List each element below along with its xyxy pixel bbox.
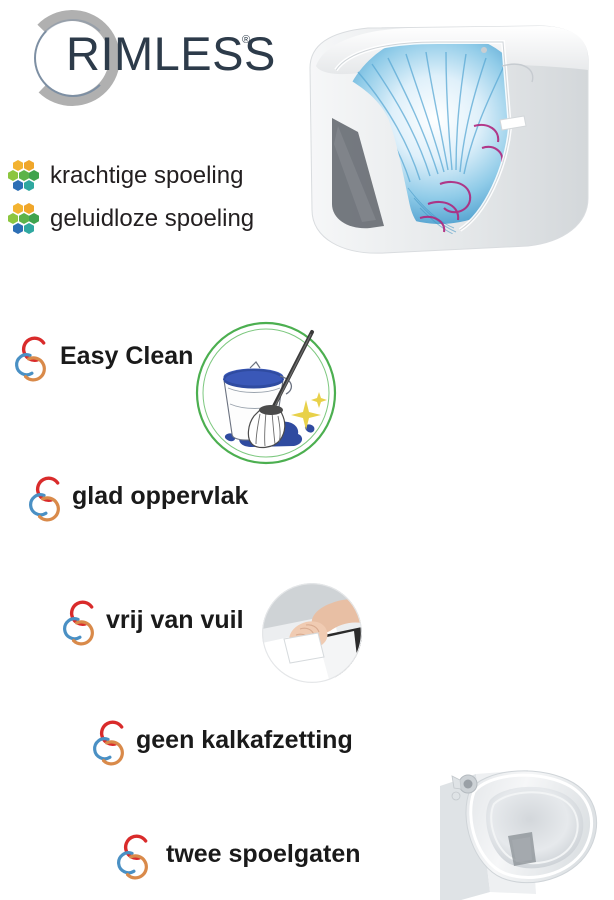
feature-label: twee spoelgaten [166, 840, 361, 869]
easy-clean-arcs-icon [112, 826, 156, 882]
mop-bucket-circle-image [190, 318, 342, 468]
hexagon-cluster-icon [8, 160, 38, 192]
feature-geen-kalkafzetting: geen kalkafzetting [88, 712, 353, 768]
feature-label: vrij van vuil [106, 606, 244, 635]
rimless-toilet-bowl-image [432, 762, 612, 900]
easy-clean-arcs-icon [58, 592, 102, 648]
rimless-logo: RIMLESS ® [18, 6, 278, 114]
feature-label: Easy Clean [60, 342, 193, 371]
feature-label: geluidloze spoeling [50, 205, 254, 233]
hand-wiping-surface-image [262, 583, 362, 683]
feature-vrij-van-vuil: vrij van vuil [58, 592, 244, 648]
registered-mark: ® [242, 34, 250, 46]
easy-clean-arcs-icon [24, 468, 68, 524]
easy-clean-arcs-icon [10, 328, 54, 384]
feature-label: glad oppervlak [72, 482, 248, 511]
hexagon-cluster-icon [8, 203, 38, 235]
rimless-product-infographic: RIMLESS ® [0, 0, 614, 900]
feature-geluidloze-spoeling: geluidloze spoeling [8, 203, 254, 235]
feature-label: geen kalkafzetting [136, 726, 353, 755]
feature-twee-spoelgaten: twee spoelgaten [112, 826, 361, 882]
toilet-bowl-cutaway-image [288, 8, 610, 263]
feature-label: krachtige spoeling [50, 162, 243, 190]
feature-easy-clean: Easy Clean [10, 328, 193, 384]
feature-krachtige-spoeling: krachtige spoeling [8, 160, 243, 192]
easy-clean-arcs-icon [88, 712, 132, 768]
feature-glad-oppervlak: glad oppervlak [24, 468, 248, 524]
